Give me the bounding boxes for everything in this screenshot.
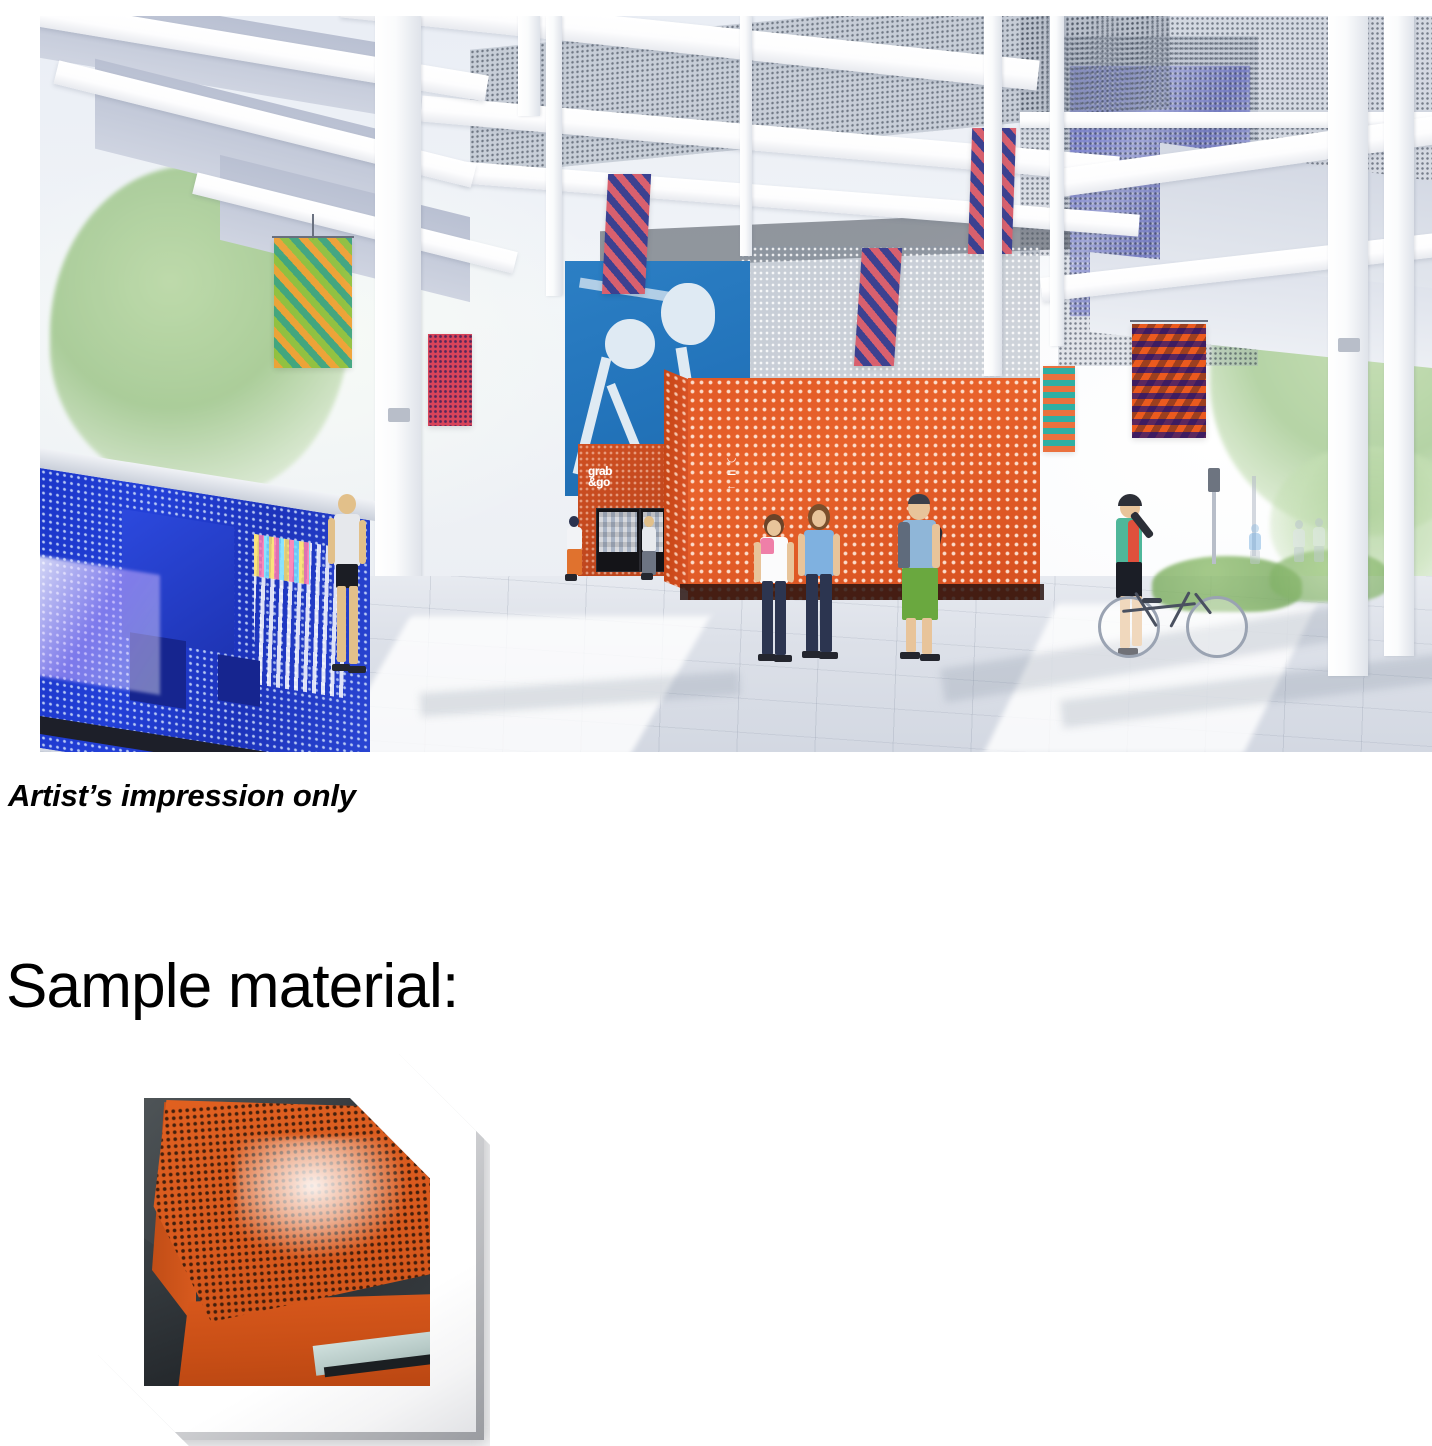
sample-material-photo [144,1098,430,1386]
vending-machine [596,508,640,572]
image-caption: Artist’s impression only [8,779,356,813]
arrow-left-icon: ← [716,480,746,494]
frame-white-mat [90,1046,476,1432]
bicycle-icon [1098,582,1246,654]
seating-icon: ⚌ [716,466,746,480]
woman-blue-tshirt [796,504,844,660]
traffic-light-icon [1208,468,1220,492]
person-with-skateboard [892,496,954,664]
column-base-plate [388,408,410,422]
green-orange-diagonal-banner [274,238,352,368]
canopy-column [1384,16,1414,656]
sample-material-figure [90,1046,490,1444]
wayfinding-icon-group: ◡ ⚌ ← [716,452,746,544]
red-dotted-banner [428,334,472,426]
canopy-column [546,16,562,296]
orange-purple-chevron-banner [1132,324,1206,438]
orange-pavilion-base [680,584,1044,600]
distant-pedestrian [1312,518,1326,562]
sample-material-heading: Sample material: [6,954,458,1019]
woman-white-tshirt [752,514,798,662]
wifi-icon: ◡ [716,452,746,466]
canopy-column [740,16,752,256]
red-navy-stripe-banner-2 [854,248,902,366]
red-navy-stripe-banner-1 [602,174,651,294]
column-base-plate [1338,338,1360,352]
canopy-column [984,16,1002,376]
canopy-column [1050,16,1064,346]
distant-pedestrian [1292,520,1306,562]
teal-orange-banner [1043,366,1075,452]
kiosk-logo-line-2: &go [588,477,648,488]
person-at-vending-machine-left [564,516,586,580]
canopy-column [518,16,540,116]
banner-rod [1130,320,1208,322]
artist-impression-image: grab &go ◡ ⚌ ← [40,16,1432,752]
person-at-vending-machine-right [640,516,658,578]
person-at-blue-pavilion [326,494,370,676]
distant-pedestrian [1248,524,1262,564]
grab-and-go-logo: grab &go [588,466,648,489]
artist-impression-figure: grab &go ◡ ⚌ ← [40,16,1432,752]
